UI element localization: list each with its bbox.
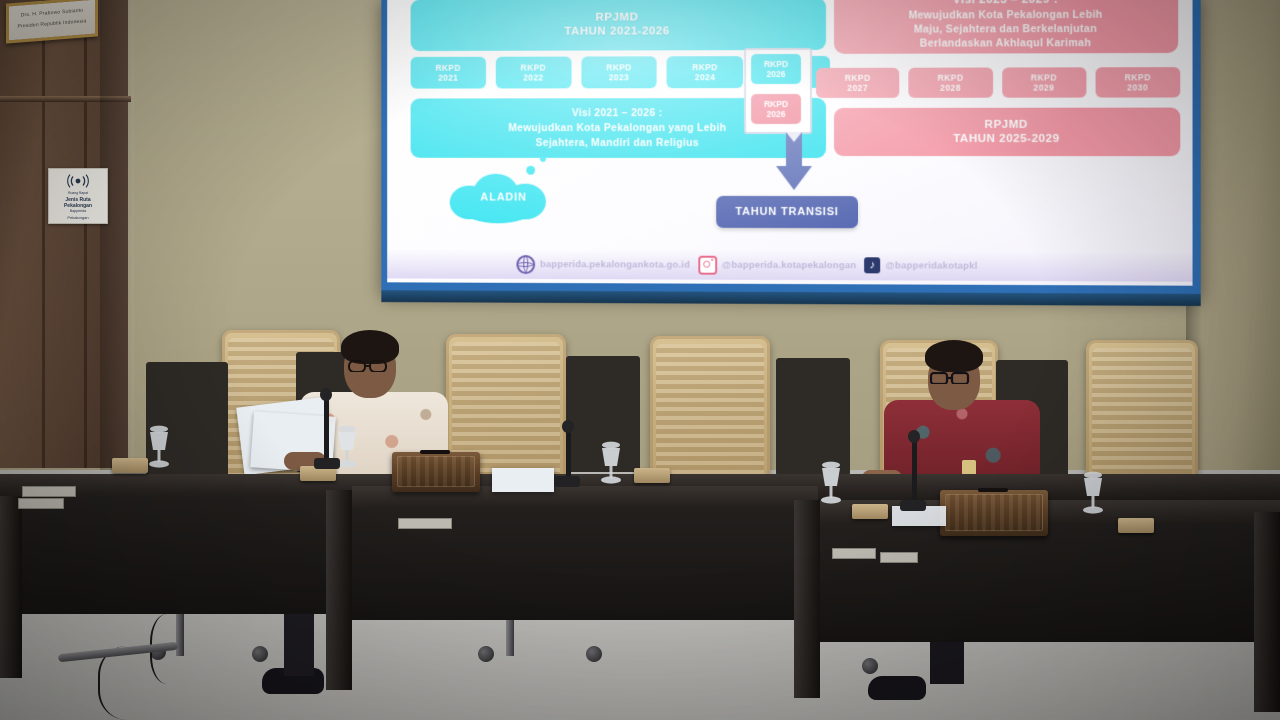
rkpd-2026-pink: RKPD 2026 (751, 94, 801, 124)
official-right-shoe (868, 676, 926, 700)
table-label-1 (22, 486, 76, 497)
paper-sheet-table (492, 468, 554, 492)
instagram-icon (698, 255, 717, 274)
tissue-slot-right (978, 488, 1008, 492)
visi-left-title: Visi 2021 – 2026 : (572, 106, 663, 121)
table-front-panel-left (0, 496, 332, 614)
table-front-panel-right (820, 524, 1280, 642)
chip-year: 2026 (767, 109, 786, 119)
table-leg-3 (794, 500, 820, 698)
rkpd-chip-2030: RKPD 2030 (1095, 67, 1180, 97)
visi-2025-2029-box: Visi 2025 – 2029 : Mewujudkan Kota Pekal… (834, 0, 1178, 54)
chip-year: 2030 (1127, 82, 1148, 92)
footer-tiktok: ♪ @bapperidakotapkl (864, 257, 977, 273)
rkpd-chip-2023: RKPD 2023 (581, 56, 657, 88)
chip-year: 2021 (438, 73, 458, 83)
right-wall (1196, 0, 1280, 470)
down-arrow-icon (774, 132, 814, 194)
speaker-left-hair (341, 330, 399, 364)
name-block-3 (634, 468, 670, 483)
aladin-cloud: ALADIN (450, 172, 558, 224)
rpjmd-bottom-line2: TAHUN 2025-2029 (953, 132, 1059, 146)
water-goblet-1 (146, 424, 172, 470)
wall-notice-sign: Ruang Rapat Jenis Ruta Pekalongan Bapper… (48, 168, 108, 224)
microphone-stem-1 (324, 398, 329, 462)
rpjmd-2021-2026-banner: RPJMD TAHUN 2021-2026 (411, 0, 826, 51)
chip-label: RKPD (606, 62, 631, 72)
table-leg-1 (0, 496, 22, 678)
visi-right-line1: Mewujudkan Kota Pekalongan Lebih (909, 8, 1103, 23)
rpjmd-2025-2029-banner: RPJMD TAHUN 2025-2029 (834, 108, 1180, 157)
chip-label: RKPD (845, 73, 871, 83)
chair-caster-5 (862, 658, 878, 674)
chip-label: RKPD (1125, 72, 1151, 82)
rkpd-2026-highlight-box: RKPD 2026 RKPD 2026 (744, 48, 812, 134)
microphone-base-3 (900, 500, 926, 511)
rkpd-chip-2029: RKPD 2029 (1002, 67, 1086, 97)
sign-bottom: Pekalongan (51, 215, 105, 220)
wall-pillar (100, 0, 134, 470)
chip-label: RKPD (764, 59, 788, 69)
tissue-slot-left (420, 450, 450, 454)
rpjmd-top-line1: RPJMD (596, 11, 639, 25)
presentation-slide: RPJMD TAHUN 2021-2026 RKPD 2021 RKPD 202… (387, 0, 1192, 286)
slide-footer: bapperida.pekalongankota.go.id @bapperid… (387, 249, 1192, 282)
chair-backpanel-4 (776, 358, 850, 476)
tahun-transisi-button[interactable]: TAHUN TRANSISI (716, 196, 858, 228)
visi-left-line1: Mewujudkan Kota Pekalongan yang Lebih (508, 121, 726, 136)
chip-year: 2023 (609, 72, 629, 82)
official-right-hair (925, 340, 983, 372)
chip-label: RKPD (692, 62, 718, 72)
name-block-5 (1118, 518, 1154, 533)
website-text: bapperida.pekalongankota.go.id (540, 259, 690, 270)
tiktok-text: @bapperidakotapkl (886, 260, 978, 271)
framed-plaque: Drs. H. Prabowo Subianto Presiden Republ… (6, 0, 98, 44)
speaker-left-glasses (348, 360, 388, 372)
rpjmd-top-line2: TAHUN 2021-2026 (564, 24, 669, 38)
chip-year: 2027 (847, 83, 868, 93)
rkpd-chip-2027: RKPD 2027 (816, 68, 900, 98)
chair-5 (1086, 340, 1198, 488)
tiktok-icon: ♪ (864, 257, 880, 273)
microphone-head-2 (562, 420, 574, 433)
wifi-icon (67, 174, 89, 188)
globe-icon (516, 255, 535, 274)
chip-year: 2024 (695, 72, 715, 82)
meeting-room-photo: Drs. H. Prabowo Subianto Presiden Republ… (0, 0, 1280, 720)
visi-right-title: Visi 2025 – 2029 : (953, 0, 1058, 6)
chair-caster-2 (252, 646, 268, 662)
tissue-box-right (940, 490, 1048, 536)
instagram-text: @bapperida.kotapekalongan (722, 259, 857, 270)
rpjmd-bottom-line1: RPJMD (985, 118, 1028, 132)
visi-left-line2: Sejahtera, Mandiri dan Religius (536, 136, 699, 151)
chip-label: RKPD (1031, 72, 1057, 82)
chip-year: 2022 (523, 73, 543, 83)
name-block-1 (112, 458, 148, 473)
projection-screen: RPJMD TAHUN 2021-2026 RKPD 2021 RKPD 202… (381, 0, 1200, 296)
water-goblet-5 (1080, 470, 1106, 516)
chip-label: RKPD (436, 63, 461, 73)
microphone-head-1 (320, 388, 332, 401)
chip-year: 2028 (940, 83, 961, 93)
table-label-5 (880, 552, 918, 563)
table-leg-4 (1254, 512, 1280, 712)
water-goblet-3 (598, 440, 624, 486)
microphone-base-2 (554, 476, 580, 487)
microphone-stem-2 (566, 430, 571, 480)
footer-instagram: @bapperida.kotapekalongan (698, 255, 856, 275)
chip-label: RKPD (521, 63, 546, 73)
table-label-2 (18, 498, 64, 509)
plaque-line-1: Drs. H. Prabowo Subianto (13, 7, 91, 19)
chip-label: RKPD (938, 73, 964, 83)
sign-title: Jenis Ruta Pekalongan (51, 197, 105, 209)
chip-year: 2026 (767, 69, 786, 79)
chair-3 (650, 336, 770, 482)
plaque-line-2: Presiden Republik Indonesia (13, 18, 91, 30)
rkpd-chip-2028: RKPD 2028 (909, 68, 993, 98)
sign-small-top: Ruang Rapat (51, 191, 105, 195)
aladin-label: ALADIN (480, 192, 527, 204)
microphone-stem-3 (912, 440, 917, 504)
water-goblet-4 (818, 460, 844, 506)
table-leg-2 (326, 490, 352, 690)
visi-right-line2: Maju, Sejahtera dan Berkelanjutan (914, 22, 1097, 37)
chip-label: RKPD (764, 99, 788, 109)
visi-right-line3: Berlandaskan Akhlaqul Karimah (920, 36, 1091, 51)
table-label-3 (398, 518, 452, 529)
rkpd-chip-2022: RKPD 2022 (496, 57, 572, 89)
microphone-base-1 (314, 458, 340, 469)
microphone-head-3 (908, 430, 920, 443)
sign-sub: Bapperida (51, 209, 105, 213)
official-right-glasses (930, 372, 970, 384)
tissue-box-left (392, 452, 480, 492)
footer-website: bapperida.pekalongankota.go.id (516, 255, 690, 275)
chip-year: 2029 (1033, 83, 1054, 93)
table-label-4 (832, 548, 876, 559)
name-block-4 (852, 504, 888, 519)
rkpd-chip-2021: RKPD 2021 (411, 57, 486, 89)
rkpd-pink-row: RKPD 2027 RKPD 2028 RKPD 2029 RKPD 2030 (816, 67, 1180, 98)
chair-caster-3 (478, 646, 494, 662)
rkpd-chip-2024: RKPD 2024 (667, 56, 743, 88)
chair-caster-4 (586, 646, 602, 662)
rkpd-2026-cyan: RKPD 2026 (751, 54, 801, 84)
